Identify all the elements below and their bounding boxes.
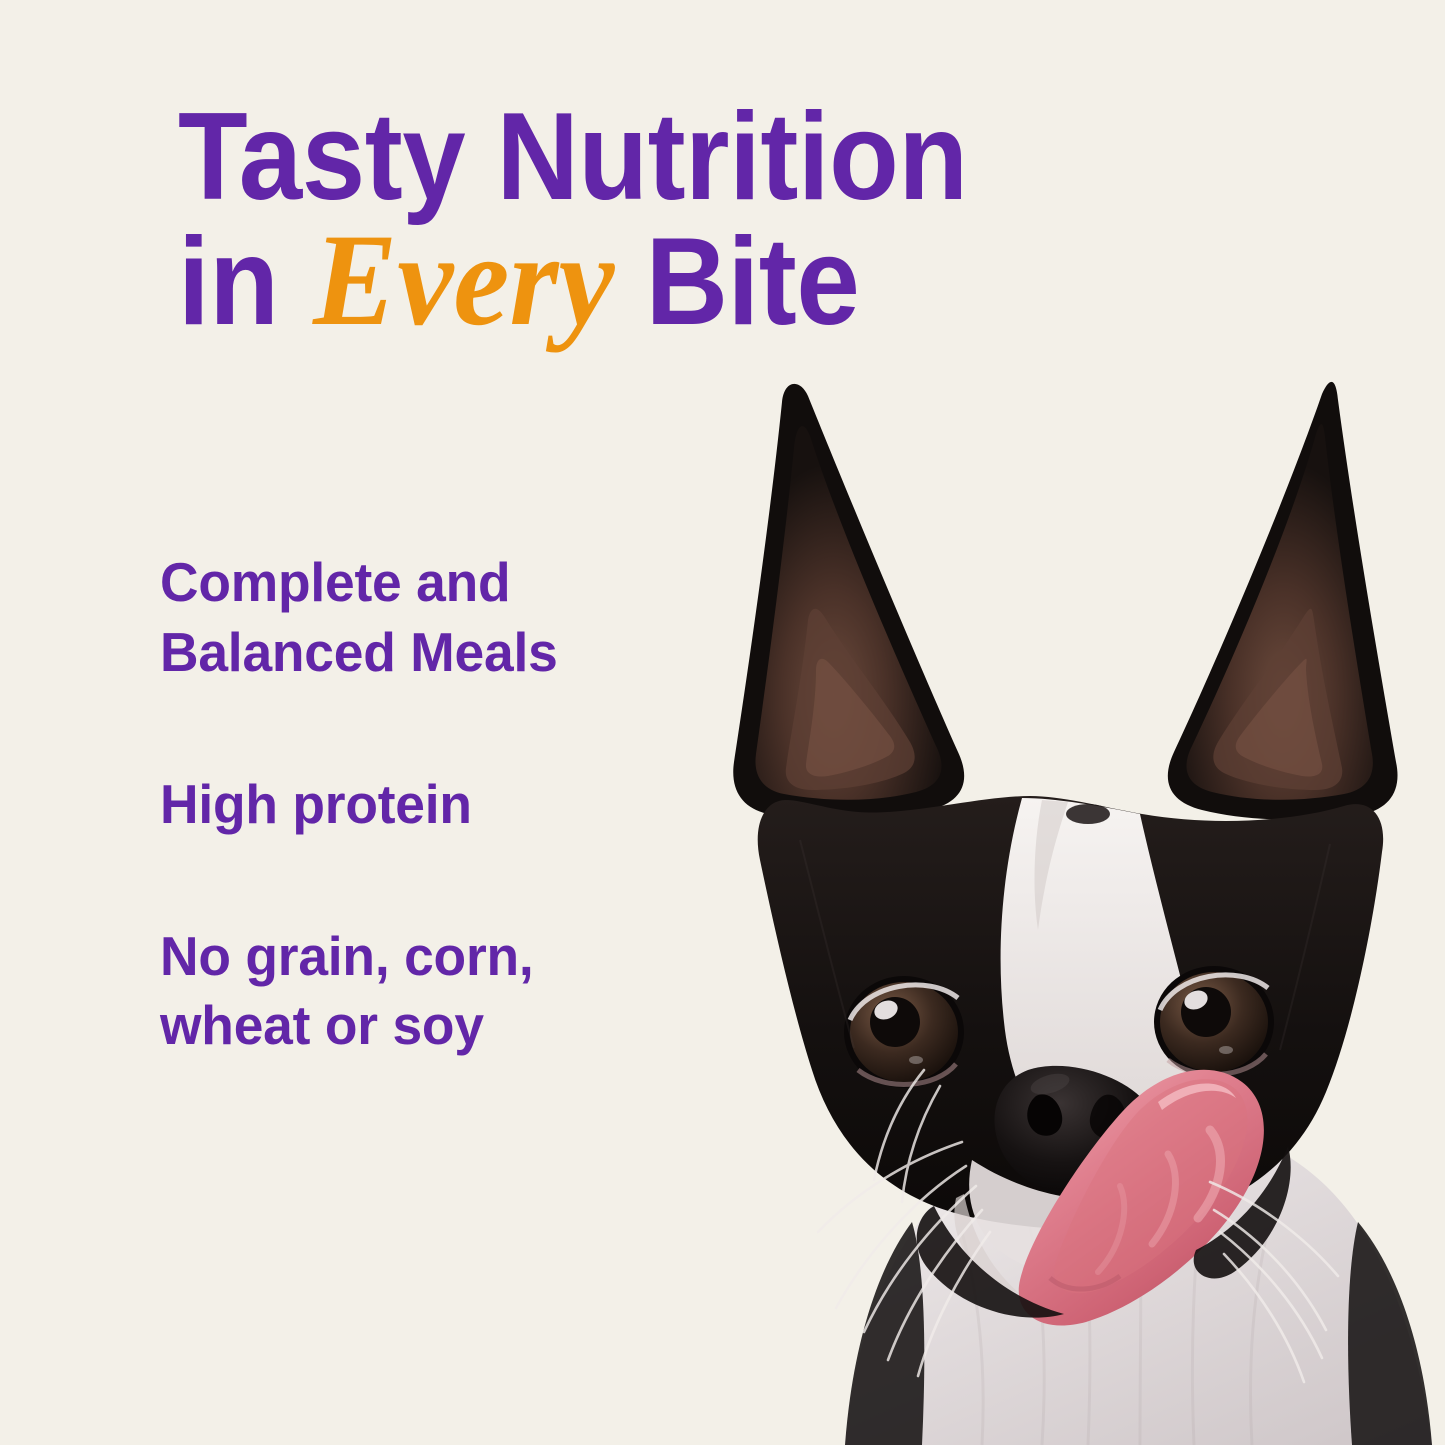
page-title: Tasty Nutrition in Every Bite	[178, 98, 1258, 344]
benefit-3-line-2: wheat or soy	[160, 991, 703, 1061]
benefit-item-high-protein: High protein	[160, 770, 703, 840]
benefit-3-line-1: No grain, corn,	[160, 922, 703, 992]
blaze-freckle	[1066, 804, 1110, 824]
headline-line2-after: Bite	[614, 213, 859, 351]
right-eye	[1154, 966, 1274, 1078]
benefit-item-complete-balanced: Complete and Balanced Meals	[160, 548, 703, 688]
benefit-item-no-grain: No grain, corn, wheat or soy	[160, 922, 703, 1062]
benefit-1-line-1: Complete and	[160, 548, 703, 618]
headline-line2-before: in	[178, 213, 310, 351]
dog-photo	[690, 370, 1445, 1445]
boston-terrier-illustration	[690, 370, 1445, 1445]
benefit-1-line-2: Balanced Meals	[160, 618, 703, 688]
benefits-list: Complete and Balanced Meals High protein…	[160, 548, 720, 1061]
benefit-2-line-1: High protein	[160, 770, 703, 840]
headline-line-1: Tasty Nutrition	[178, 98, 1172, 217]
product-feature-banner: Tasty Nutrition in Every Bite Complete a…	[0, 0, 1445, 1445]
left-eye	[844, 976, 964, 1088]
headline-line-2: in Every Bite	[178, 217, 1172, 344]
headline-emphasis-every: Every	[304, 217, 621, 344]
